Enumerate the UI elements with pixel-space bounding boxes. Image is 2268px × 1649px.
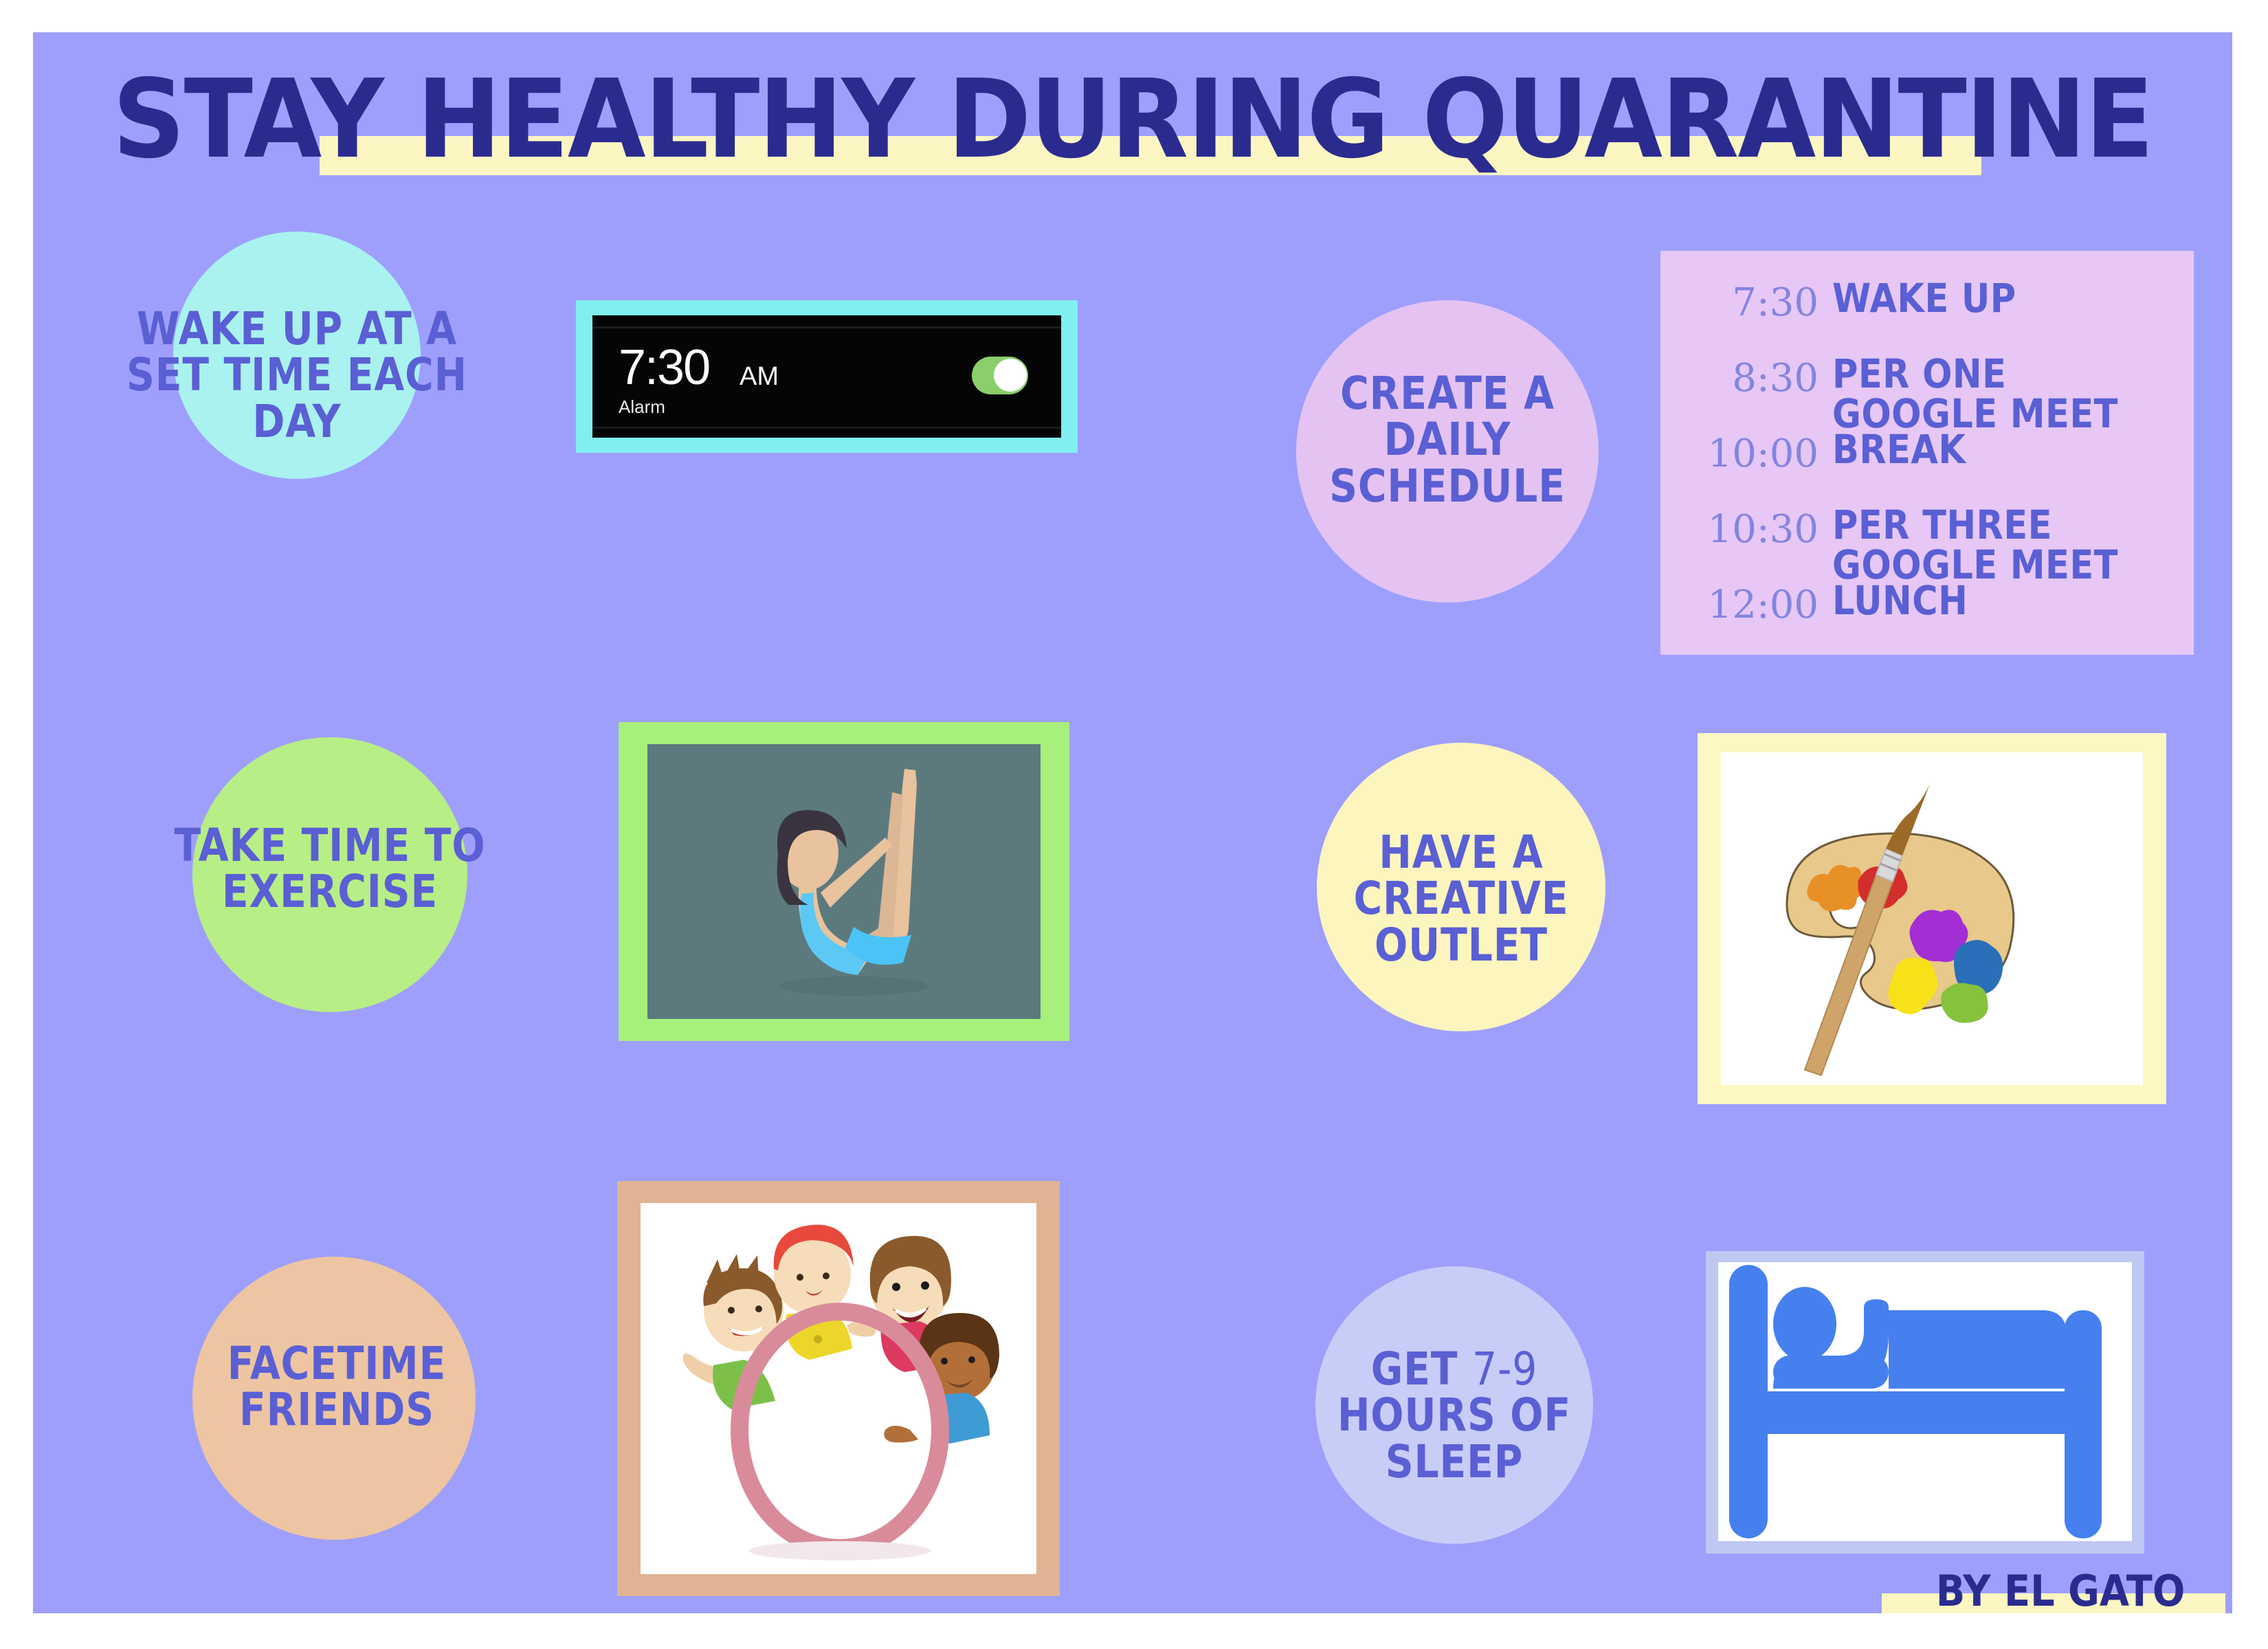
schedule-label: PER THREE GOOGLE MEET	[1832, 505, 2150, 585]
tip-label-sleep-hours: 7-9	[1472, 1343, 1537, 1395]
tip-label-facetime-friends: FACETIME FRIENDS	[177, 1340, 496, 1433]
schedule-time: 10:00	[1660, 435, 1819, 473]
bed-sleeping-icon	[1718, 1262, 2132, 1541]
tip-label-exercise-line1: TAKE TIME TO	[175, 819, 486, 872]
tip-label-creative-outlet: HAVE A CREATIVE OUTLET	[1284, 829, 1638, 968]
poster-canvas: STAY HEALTHY DURING QUARANTINE WAKE UP A…	[33, 32, 2232, 1613]
tip-label-sleep: GET 7-9 HOURS OF SLEEP	[1282, 1346, 1627, 1485]
tip-label-creative-outlet-line1: HAVE A CREATIVE	[1353, 826, 1568, 925]
tip-label-create-schedule-line1: CREATE A DAILY	[1340, 367, 1555, 466]
facetime-image	[641, 1203, 1036, 1574]
alarm-time: 7:30	[619, 343, 709, 392]
schedule-time: 7:30	[1660, 284, 1819, 322]
tip-label-exercise: TAKE TIME TO EXERCISE	[164, 822, 496, 915]
tip-label-sleep-line1-prefix: GET	[1371, 1343, 1472, 1395]
alarm-toggle-switch[interactable]	[972, 357, 1028, 394]
schedule-label: PER ONE GOOGLE MEET	[1832, 354, 2150, 434]
schedule-label: LUNCH	[1832, 581, 1968, 620]
paint-palette-icon	[1721, 752, 2143, 1085]
alarm-ampm: AM	[740, 363, 779, 390]
credit-text: BY EL GATO NEWS	[1906, 1570, 2215, 1613]
tip-label-facetime-friends-line1: FACETIME	[227, 1337, 447, 1390]
tip-label-wake-up: WAKE UP AT A SET TIME EACH DAY	[105, 306, 488, 445]
tip-label-facetime-friends-line2: FRIENDS	[239, 1383, 434, 1436]
schedule-time: 10:30	[1660, 511, 1819, 549]
alarm-toggle-knob	[994, 359, 1027, 392]
pilates-woman-icon	[647, 744, 1041, 1019]
alarm-label: Alarm	[619, 398, 665, 416]
creative-image	[1721, 752, 2143, 1085]
tip-label-create-schedule: CREATE A DAILY SCHEDULE	[1282, 370, 1613, 509]
exercise-image	[647, 744, 1041, 1019]
daily-schedule-panel: 7:30 WAKE UP 8:30 PER ONE GOOGLE MEET 10…	[1660, 251, 2194, 655]
page-title: STAY HEALTHY DURING QUARANTINE	[110, 65, 2155, 174]
tip-label-wake-up-line1: WAKE UP AT A	[137, 302, 457, 355]
tip-label-exercise-line2: EXERCISE	[222, 865, 438, 918]
alarm-divider-bottom	[592, 427, 1061, 429]
tip-label-wake-up-line2: SET TIME EACH DAY	[126, 348, 467, 447]
schedule-time: 8:30	[1660, 359, 1819, 398]
kids-with-hoop-icon	[641, 1203, 1036, 1574]
schedule-label: WAKE UP	[1832, 278, 2016, 318]
sleep-image	[1718, 1262, 2132, 1541]
tip-label-sleep-line2: HOURS OF SLEEP	[1337, 1389, 1571, 1488]
schedule-label: BREAK	[1832, 429, 1966, 469]
schedule-time: 12:00	[1660, 586, 1819, 625]
tip-label-creative-outlet-line2: OUTLET	[1375, 919, 1548, 972]
tip-label-create-schedule-line2: SCHEDULE	[1329, 460, 1566, 513]
alarm-divider-top	[592, 326, 1061, 328]
alarm-widget[interactable]: 7:30 AM Alarm	[592, 315, 1061, 438]
